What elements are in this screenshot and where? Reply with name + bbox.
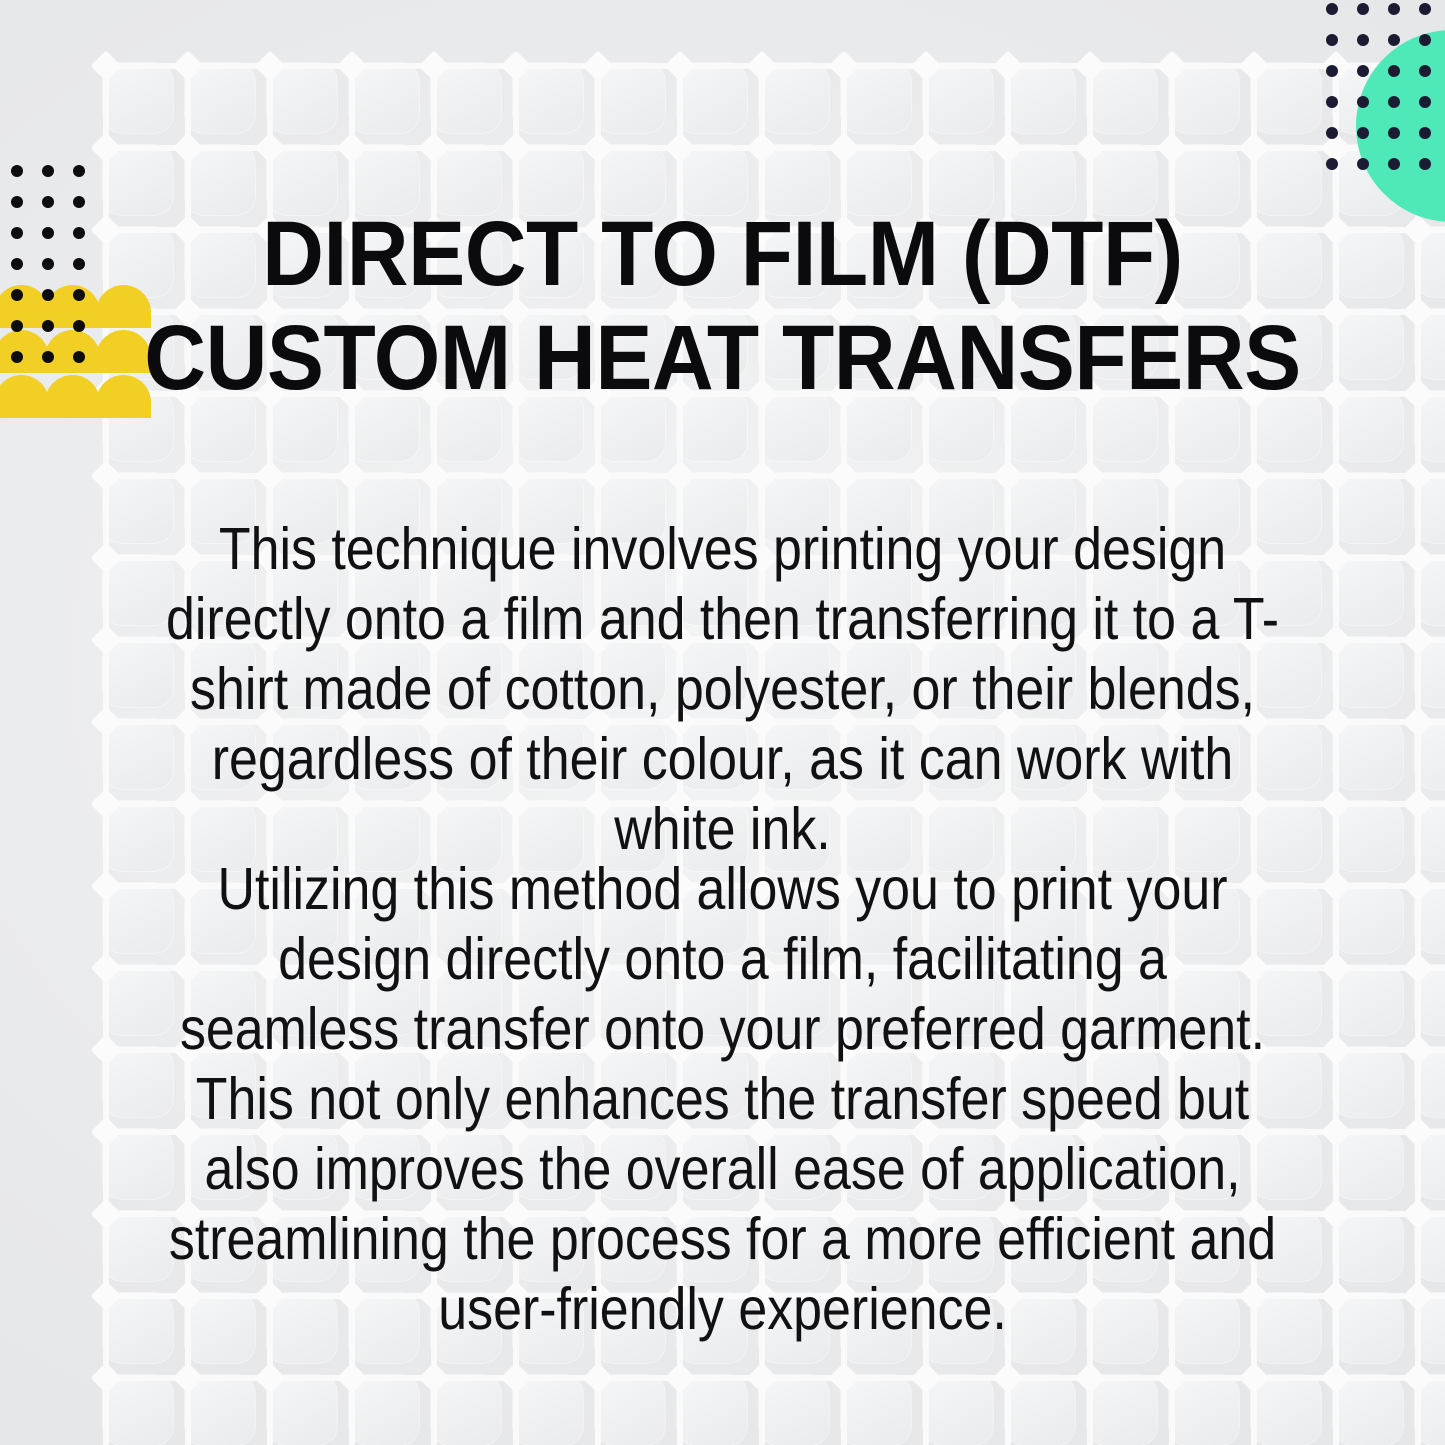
body-paragraph-1: This technique involves printing your de…: [166, 514, 1279, 864]
content-layer: DIRECT TO FILM (DTF) CUSTOM HEAT TRANSFE…: [0, 0, 1445, 1445]
page-title: DIRECT TO FILM (DTF) CUSTOM HEAT TRANSFE…: [51, 202, 1395, 410]
body-paragraph-2: Utilizing this method allows you to prin…: [166, 854, 1279, 1344]
poster-canvas: DIRECT TO FILM (DTF) CUSTOM HEAT TRANSFE…: [0, 0, 1445, 1445]
